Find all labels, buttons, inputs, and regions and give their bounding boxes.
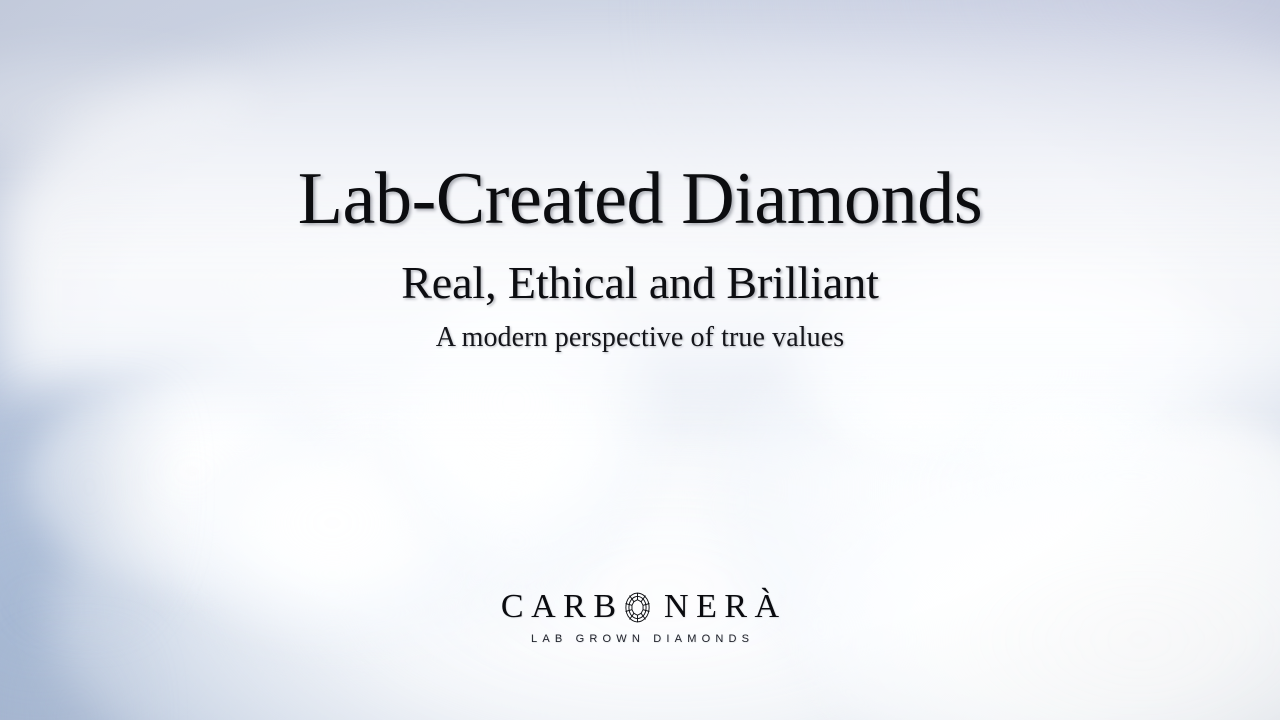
page-subtitle: Real, Ethical and Brilliant [0,260,1280,306]
slide-canvas: Lab-Created Diamonds Real, Ethical and B… [0,0,1280,720]
brand-logo: CARB [0,590,1280,645]
round-brilliant-diamond-icon [624,592,651,623]
brand-wordmark: CARB [493,590,786,624]
page-tagline: A modern perspective of true values [0,324,1280,352]
page-title: Lab-Created Diamonds [0,162,1280,236]
brand-wordmark-part-after: NERÀ [657,590,787,624]
hero-content: Lab-Created Diamonds Real, Ethical and B… [0,0,1280,720]
brand-tagline: LAB GROWN DIAMONDS [526,634,754,645]
brand-wordmark-part-before: CARB [493,590,623,624]
